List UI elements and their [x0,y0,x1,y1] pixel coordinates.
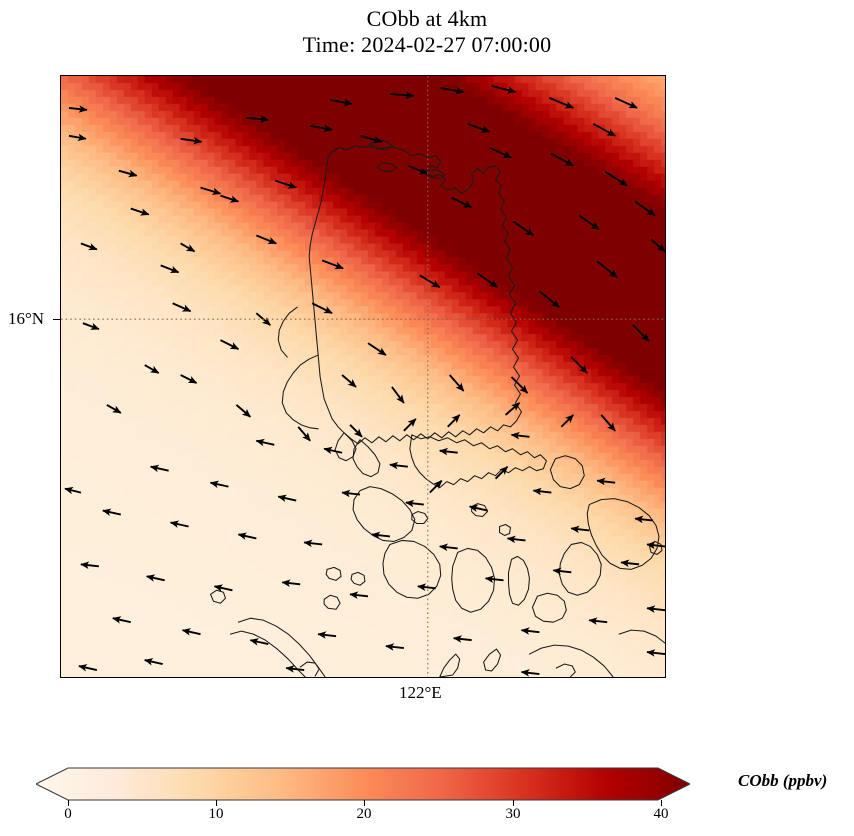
figure-subtitle-time: Time: 2024-02-27 07:00:00 [0,32,854,58]
colorbar-gradient [36,766,690,802]
x-axis-tick-label-122e: 122°E [399,683,442,703]
graticule-gridlines [61,76,665,677]
y-axis-tick-label-16n: 16°N [8,309,44,329]
colorbar-tick-label: 10 [209,806,224,823]
colorbar[interactable] [36,766,690,802]
figure-title-block: CObb at 4km Time: 2024-02-27 07:00:00 [0,6,854,58]
map-plot-area[interactable] [60,75,666,678]
colorbar-tick-label: 40 [654,806,669,823]
y-axis-tick-mark [53,319,61,320]
colorbar-unit-label: CObb (ppbv) [738,771,827,791]
colorbar-tick-label: 30 [506,806,521,823]
colorbar-tick-label: 20 [357,806,372,823]
colorbar-tick-label: 0 [64,806,72,823]
page-title: CObb at 4km [0,6,854,32]
